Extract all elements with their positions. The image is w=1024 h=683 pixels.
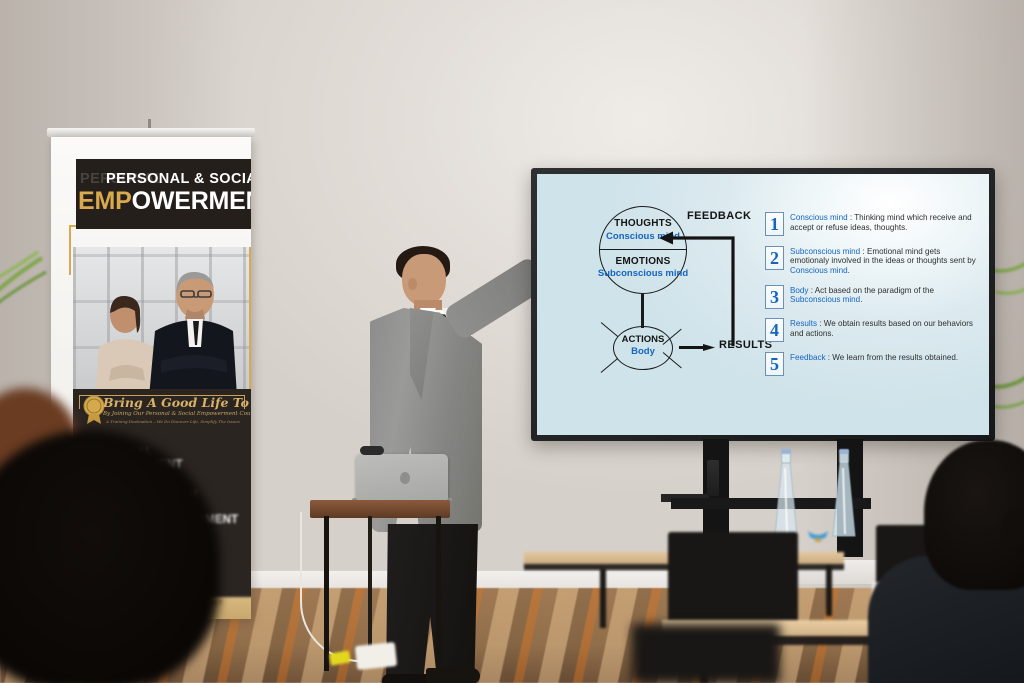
- list-number-badge: 3: [765, 285, 784, 309]
- list-body-tail: .: [848, 266, 850, 275]
- banner-headline-bottom: EMPOWERMENT: [78, 187, 251, 216]
- banner-photo: [73, 247, 251, 395]
- banner-script-sub1: By Joining Our Personal & Social Empower…: [103, 411, 243, 417]
- list-number-badge: 2: [765, 246, 784, 270]
- list-number-badge: 5: [765, 352, 784, 376]
- banner-man-figure: [147, 269, 239, 395]
- list-item-text: Subconscious mind : Emotional mind gets …: [790, 246, 981, 276]
- circle-connector-line: [641, 294, 644, 328]
- display-screen[interactable]: THOUGHTS Conscious mind EMOTIONS Subcons…: [537, 174, 989, 435]
- label-feedback: FEEDBACK: [687, 210, 751, 222]
- list-item: 1 Conscious mind : Thinking mind which r…: [765, 212, 981, 236]
- list-body-highlight: Subconscious mind: [790, 295, 860, 304]
- list-term: Results: [790, 319, 817, 328]
- bowl-icon: [806, 529, 830, 543]
- banner-headline-top: PERSONAL & SOCIAL: [106, 171, 251, 187]
- slide-content: THOUGHTS Conscious mind EMOTIONS Subcons…: [537, 174, 989, 435]
- list-body: We learn from the results obtained.: [832, 353, 958, 362]
- laptop-lid: [356, 454, 448, 500]
- list-number-badge: 1: [765, 212, 784, 236]
- banner-headline-block: PERSONAL PERSONAL & SOCIAL EMPOWERMENT: [76, 159, 251, 229]
- presenter-ear: [408, 278, 417, 290]
- list-item-text: Feedback : We learn from the results obt…: [790, 352, 958, 376]
- conference-chair[interactable]: [668, 532, 798, 628]
- attendee-right-hair-bun: [1002, 512, 1024, 548]
- banner-script-sub2: A Training Destination – We Do Discover …: [103, 419, 243, 424]
- photo-scene: OURSELF AND YOUR COMMUNITY PERSONAL PERS…: [0, 0, 1024, 683]
- list-term: Subconscious mind: [790, 247, 860, 256]
- potted-plant-left-icon: [0, 238, 50, 318]
- water-bottle-icon: [773, 448, 799, 540]
- list-item-text: Body : Act based on the paradigm of the …: [790, 285, 981, 309]
- side-table-leg: [324, 516, 329, 671]
- list-separator: :: [860, 247, 867, 256]
- list-body: Act based on the paradigm of the: [815, 286, 934, 295]
- banner-headline-white: OWERMENT: [132, 187, 251, 215]
- list-separator: :: [817, 319, 824, 328]
- mouse[interactable]: [360, 446, 384, 455]
- banner-gold-accent-v: [69, 225, 71, 275]
- banner-script-tagline: Bring A Good Life To Life: [103, 395, 243, 410]
- water-bottle-icon: [831, 448, 857, 540]
- list-body-highlight: Conscious mind: [790, 266, 848, 275]
- back-table-leg: [600, 568, 606, 628]
- back-table-leg: [826, 566, 832, 616]
- display-control-panel[interactable]: [707, 460, 719, 496]
- side-table-leg: [436, 516, 441, 671]
- list-term: Feedback: [790, 353, 826, 362]
- feedback-arrow-icon: [655, 230, 737, 346]
- list-term: Body: [790, 286, 808, 295]
- label-body: Body: [613, 346, 673, 357]
- list-term: Conscious mind: [790, 213, 848, 222]
- list-item: 5 Feedback : We learn from the results o…: [765, 352, 981, 376]
- conference-chair[interactable]: [632, 624, 780, 683]
- laptop-logo-icon: [400, 472, 410, 484]
- list-item-text: Conscious mind : Thinking mind which rec…: [790, 212, 981, 236]
- list-item: 4 Results : We obtain results based on o…: [765, 318, 981, 342]
- list-body-tail: .: [860, 295, 862, 304]
- list-item: 3 Body : Act based on the paradigm of th…: [765, 285, 981, 309]
- slide-numbered-list: 1 Conscious mind : Thinking mind which r…: [765, 212, 981, 385]
- list-item: 2 Subconscious mind : Emotional mind get…: [765, 246, 981, 276]
- side-table-top: [310, 500, 450, 518]
- banner-headline-gold: EMP: [78, 187, 132, 215]
- label-thoughts: THOUGHTS: [599, 218, 687, 229]
- banner-top-rail: [47, 128, 255, 137]
- presentation-display: THOUGHTS Conscious mind EMOTIONS Subcons…: [531, 168, 995, 441]
- laptop[interactable]: [352, 454, 450, 504]
- power-adapter: [355, 642, 397, 670]
- action-ray: [601, 358, 619, 373]
- list-item-text: Results : We obtain results based on our…: [790, 318, 981, 342]
- list-number-badge: 4: [765, 318, 784, 342]
